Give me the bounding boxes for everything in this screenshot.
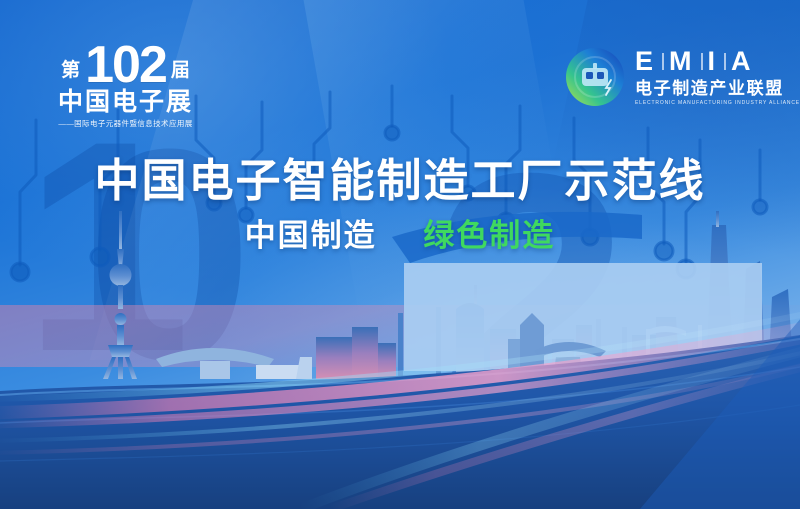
- cef-edition-suffix: 届: [171, 61, 190, 88]
- emia-letter-i: I: [708, 48, 723, 75]
- emia-english-name: E M I A: [635, 48, 800, 75]
- emia-separator-2: [701, 53, 703, 70]
- cef-subtitle: ——国际电子元器件暨信息技术应用展: [38, 118, 213, 129]
- cef-edition-prefix: 第: [61, 61, 80, 88]
- cef-edition-row: 第 102 届: [38, 30, 213, 88]
- event-banner: 1 0 2: [0, 0, 800, 509]
- emia-text-block: E M I A 电子制造产业联盟 ELECTRONIC MANUFACTURIN…: [635, 48, 800, 106]
- emia-letter-e: E: [635, 48, 660, 75]
- emia-separator-3: [724, 53, 726, 70]
- cef-edition-number: 102: [85, 43, 166, 88]
- emia-tagline: ELECTRONIC MANUFACTURING INDUSTRY ALLIAN…: [635, 101, 800, 106]
- emia-separator-1: [662, 53, 664, 70]
- subtitle-green-manufacturing: 绿色制造: [423, 218, 555, 253]
- emia-logo: E M I A 电子制造产业联盟 ELECTRONIC MANUFACTURIN…: [564, 38, 776, 116]
- emia-letter-m: M: [669, 48, 699, 75]
- china-electronics-fair-logo: 第 102 届 中国电子展 ——国际电子元器件暨信息技术应用展: [38, 30, 213, 130]
- emia-letter-a: A: [731, 48, 758, 75]
- skyline-road-illustration: [0, 209, 800, 509]
- headline-block: 中国电子智能制造工厂示范线 中国制造 绿色制造: [0, 158, 800, 251]
- subtitle-made-in-china: 中国制造: [245, 218, 377, 253]
- headline-subtitle: 中国制造 绿色制造: [0, 220, 800, 251]
- emia-mark-icon: [564, 46, 626, 108]
- page-title: 中国电子智能制造工厂示范线: [0, 158, 800, 203]
- emia-chinese-name: 电子制造产业联盟: [635, 80, 800, 97]
